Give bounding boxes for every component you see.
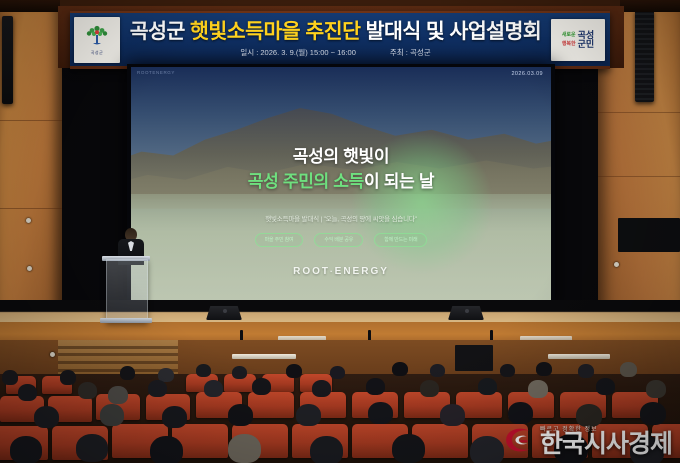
press-watermark: 빠르고 정확한 정보 한국시사경제 [501,423,672,457]
slide-headline-line-2: 곡성 주민의 소득이 되는 날 [248,170,434,195]
podium-base [100,318,152,323]
county-slogan-emblem: 새로운 곡성 행복한 군민 [551,19,605,61]
tree-icon [84,23,110,49]
wall-sign [548,354,610,359]
banner-title-part2: 발대식 및 사업설명회 [360,20,541,43]
gokseong-county-emblem: 곡성군 [74,17,120,63]
presentation-slide: ROOTENERGY 2026.03.09 곡성의 햇빛이 곡성 주민의 소득이… [131,67,551,303]
wall-dark-panel-right [618,218,680,252]
banner-subtitle: 일시 : 2026. 3. 9.(월) 15:00 ~ 16:00 주최 : 곡… [124,47,547,58]
line-array-speaker-right [635,10,654,102]
slogan-small-2: 행복한 [562,42,576,47]
brand-energy: ENERGY [335,266,389,277]
banner-datetime: 일시 : 2026. 3. 9.(월) 15:00 ~ 16:00 [240,47,356,58]
screenshot-root: 곡성군 곡성군 햇빛소득마을 추진단 발대식 및 사업설명회 일시 : 2026… [0,0,680,463]
slide-headline: 곡성의 햇빛이 곡성 주민의 소득이 되는 날 [248,145,434,194]
exit-door [455,345,493,371]
podium [106,259,148,323]
banner-title-part1: 곡성군 [130,20,190,43]
watermark-name: 한국시사경제 [540,432,672,457]
brand-root: ROOT [293,266,330,277]
slide-subtitle: 햇빛소득마을 발대식 | "오늘, 곡성의 땅에 씨앗을 심습니다" [265,213,417,223]
emblem-caption: 곡성군 [91,50,104,56]
wall-speaker-left [2,16,13,104]
slide-pill-group: 마을 주민 참여 수익 배분 공유 함께 만드는 미래 [255,233,428,247]
slogan-small-1: 새로운 [562,33,576,38]
slide-pill: 수익 배분 공유 [314,233,363,247]
stage-monitor-speaker [448,306,484,320]
slide-pill: 마을 주민 참여 [255,233,304,247]
swirl-logo-icon [501,423,535,457]
slogan-big-2: 군민 [578,40,595,49]
banner-title: 곡성군 햇빛소득마을 추진단 발대식 및 사업설명회 [124,21,547,44]
banner-host: 주최 : 곡성군 [390,47,431,58]
event-banner: 곡성군 곡성군 햇빛소득마을 추진단 발대식 및 사업설명회 일시 : 2026… [70,11,610,69]
wall-sign [232,354,296,359]
slide-headline-white: 이 되는 날 [364,172,434,191]
banner-text-block: 곡성군 햇빛소득마을 추진단 발대식 및 사업설명회 일시 : 2026. 3.… [120,21,551,58]
banner-title-highlight: 햇빛소득마을 추진단 [190,20,360,43]
watermark-text: 빠르고 정확한 정보 한국시사경제 [540,424,672,457]
slide-headline-line-1: 곡성의 햇빛이 [248,145,434,170]
slogan-line-2: 행복한 군민 [562,40,594,49]
stage-monitor-speaker [206,306,242,320]
rootenergy-logo: ROOT·ENERGY [131,266,551,277]
slide-pill: 함께 만드는 미래 [374,233,427,247]
slide-headline-green: 곡성 주민의 소득 [248,172,364,191]
